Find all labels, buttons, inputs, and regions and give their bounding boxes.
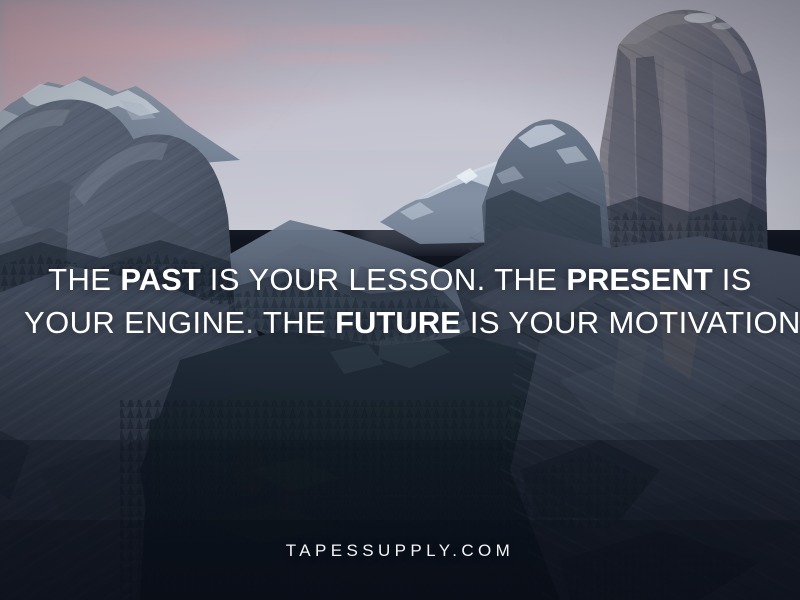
quote-l1-seg-4: IS bbox=[713, 262, 752, 297]
quote-l1-seg-2: IS YOUR LESSON. THE bbox=[201, 262, 567, 297]
quote-l1-seg-1-past: PAST bbox=[120, 262, 200, 297]
quote-poster: THE PAST IS YOUR LESSON. THE PRESENT IS … bbox=[0, 0, 800, 600]
quote-l2-seg-1-future: FUTURE bbox=[335, 305, 461, 340]
quote-line-2: YOUR ENGINE. THE FUTURE IS YOUR MOTIVATI… bbox=[24, 301, 776, 344]
quote-l1-seg-3-present: PRESENT bbox=[566, 262, 712, 297]
quote-text-block: THE PAST IS YOUR LESSON. THE PRESENT IS … bbox=[0, 258, 800, 344]
quote-line-1: THE PAST IS YOUR LESSON. THE PRESENT IS bbox=[24, 258, 776, 301]
quote-l2-seg-2: IS YOUR MOTIVATION. bbox=[461, 305, 800, 340]
quote-l2-seg-0: YOUR ENGINE. THE bbox=[24, 305, 335, 340]
site-url-watermark: TAPESSUPPLY.COM bbox=[0, 541, 800, 561]
quote-l1-seg-0: THE bbox=[48, 262, 120, 297]
